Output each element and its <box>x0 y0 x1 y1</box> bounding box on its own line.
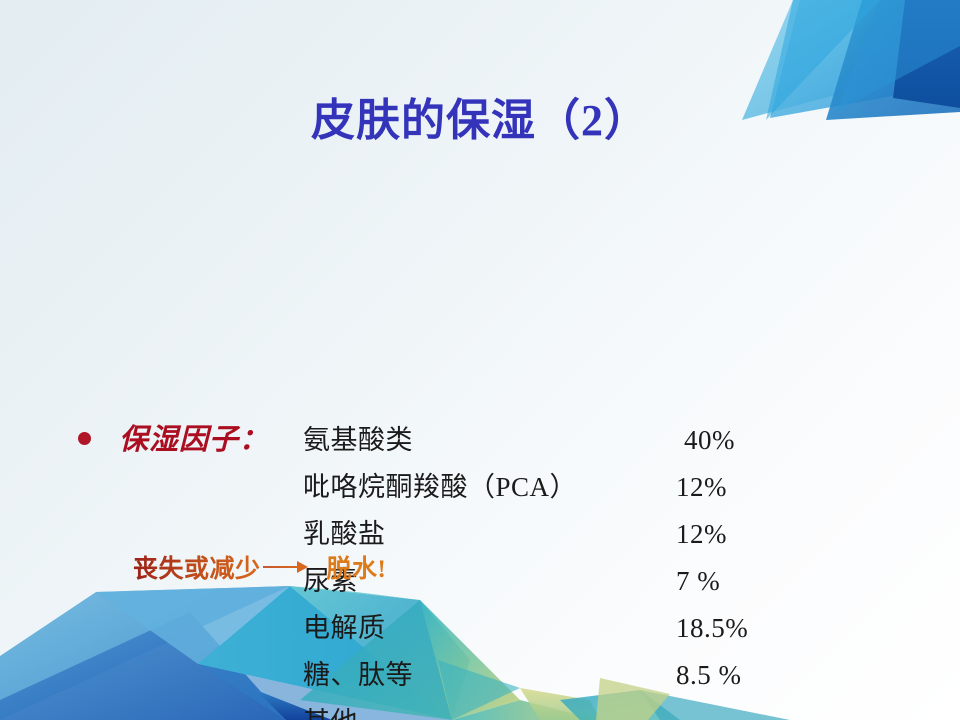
right-arrow-icon <box>263 560 309 574</box>
factor-value: 8.5 % <box>676 652 742 699</box>
factor-name: 吡咯烷酮羧酸（PCA） <box>303 464 577 511</box>
factor-value: 12% <box>676 464 727 511</box>
conclusion-lost-text: 丧失或减少 <box>133 549 261 585</box>
factor-value: 40% <box>684 417 735 464</box>
factor-row: 氨基酸类 40% <box>303 417 823 464</box>
factor-value: 18.5% <box>676 605 748 652</box>
factor-row: 糖、肽等 8.5 % <box>303 652 823 699</box>
factor-value: 12% <box>676 511 727 558</box>
moisturizing-factor-label: 保湿因子： <box>119 416 269 458</box>
factor-row: 吡咯烷酮羧酸（PCA） 12% <box>303 464 823 511</box>
slide-canvas: 皮肤的保湿（2） 保湿因子： 氨基酸类 40% 吡咯烷酮羧酸（PCA） 12% … <box>0 0 960 720</box>
factor-name: 糖、肽等 <box>303 652 413 699</box>
bullet-dot-icon <box>78 432 91 445</box>
factor-name: 氨基酸类 <box>303 417 413 464</box>
factor-name: 电解质 <box>303 605 386 652</box>
factor-name: 其他 <box>303 699 358 720</box>
conclusion-result-text: 脱水! <box>327 549 387 585</box>
factor-row: 其他 <box>303 699 823 720</box>
slide-title: 皮肤的保湿（2） <box>0 96 960 147</box>
factor-value: 7 % <box>676 558 720 605</box>
factor-row: 电解质 18.5% <box>303 605 823 652</box>
conclusion-line: 丧失或减少 脱水! <box>133 550 386 584</box>
slide-body: 保湿因子： 氨基酸类 40% 吡咯烷酮羧酸（PCA） 12% 乳酸盐 12% 尿… <box>0 204 960 604</box>
